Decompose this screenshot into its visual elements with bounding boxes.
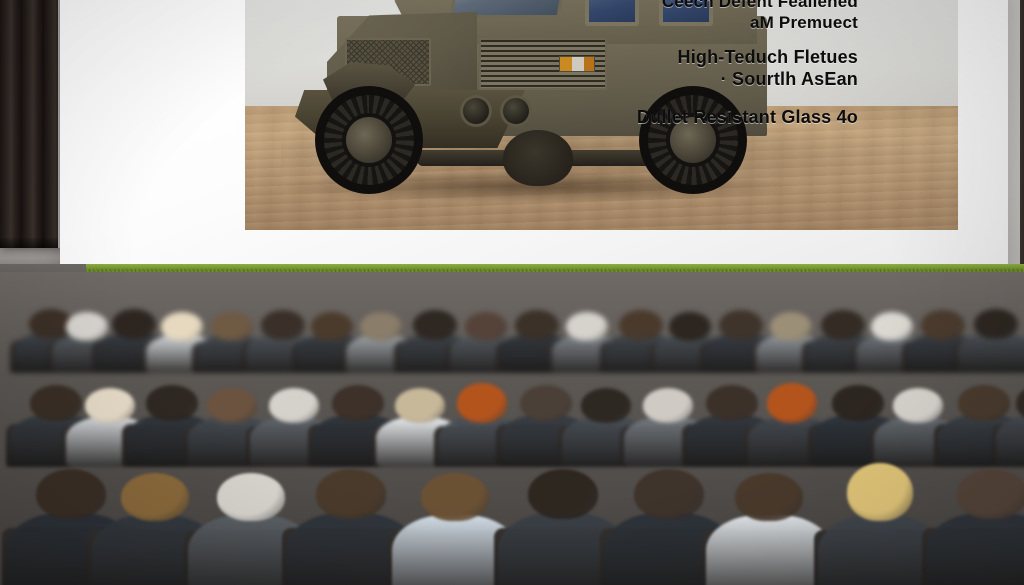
audience-member-head	[974, 309, 1018, 339]
audience-member-torso	[926, 513, 1024, 585]
hedge-top-edge	[86, 264, 1024, 269]
vehicle-headlamp-icon	[503, 98, 529, 124]
projection-screen: ·· bunnloe Ceech Defent Fealiened aM Pre…	[60, 0, 1008, 274]
audience-member-head	[634, 469, 704, 519]
presentation-scene: ·· bunnloe Ceech Defent Fealiened aM Pre…	[0, 0, 1024, 585]
slide-text-line-2: High-Teduch Fletues	[538, 47, 858, 69]
audience-member-head	[528, 469, 598, 519]
slide-text-line-1: Ceech Defent Fealiened	[538, 0, 858, 13]
audience-member-head	[566, 312, 608, 341]
slide-text-line-3: Dullet Resistant Glass 4o	[538, 107, 858, 129]
curtain-hem	[0, 238, 62, 248]
audience-member-head	[316, 469, 386, 519]
audience-member-head	[767, 383, 817, 423]
audience-member-head	[957, 469, 1024, 519]
audience-member-head	[360, 312, 402, 341]
audience-member-head	[893, 388, 943, 423]
slide-text-line-2b: · Sourtlh AsEan	[538, 69, 858, 91]
stage-curtain	[0, 0, 62, 248]
seated-audience	[0, 272, 1024, 585]
audience-row-front	[0, 439, 1024, 585]
vehicle-headlamp-icon	[463, 98, 489, 124]
audience-member-head	[735, 473, 803, 521]
slide-text-block: ·· bunnloe Ceech Defent Fealiened aM Pre…	[538, 0, 858, 129]
vehicle-wheel	[315, 86, 423, 194]
audience-member-head	[217, 473, 285, 521]
audience-member	[926, 459, 1024, 585]
slide-text-line-1b: aM Premuect	[538, 13, 858, 34]
audience-member-head	[847, 463, 913, 521]
audience-member-head	[421, 473, 489, 521]
vehicle-differential	[503, 130, 573, 186]
audience-member-head	[121, 473, 189, 521]
room-right-wall	[1020, 0, 1024, 286]
